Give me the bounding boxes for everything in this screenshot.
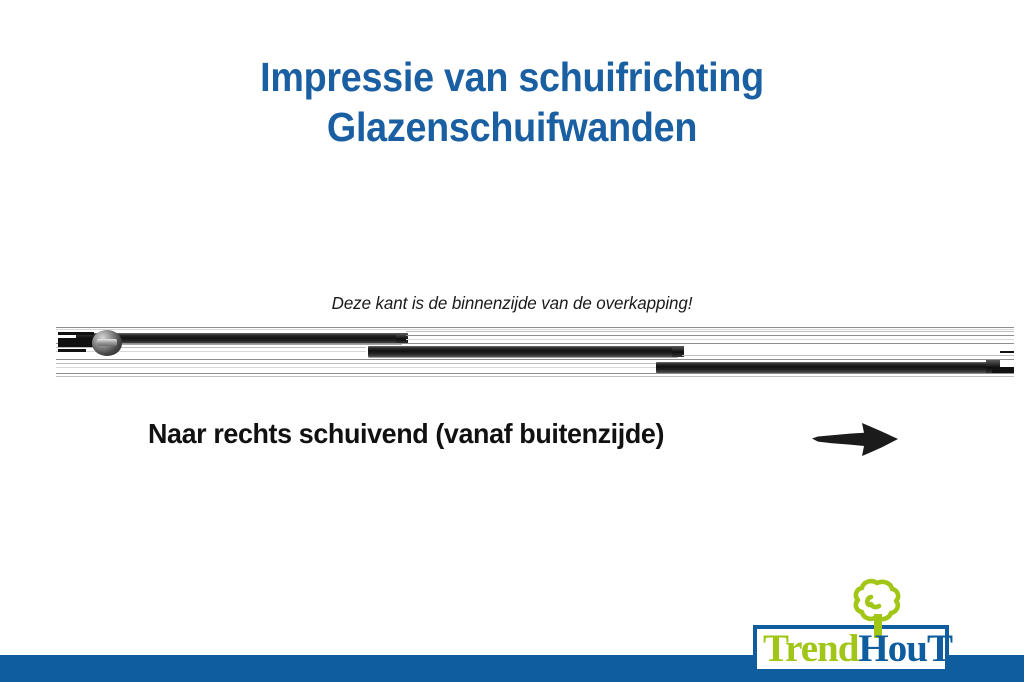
logo-word-trend: Trend bbox=[763, 627, 858, 670]
slide-direction-caption: Naar rechts schuivend (vanaf buitenzijde… bbox=[148, 418, 664, 450]
slide-canvas: Impressie van schuifrichting Glazenschui… bbox=[0, 0, 1024, 682]
rail-line-top-inner bbox=[56, 329, 1014, 330]
trendhout-logo[interactable]: TrendHouT bbox=[753, 576, 953, 682]
rail-line-1c bbox=[406, 339, 1014, 340]
rail-line-1b bbox=[406, 335, 1014, 336]
rail-panel-bar-3 bbox=[656, 362, 992, 373]
inner-side-caption: Deze kant is de binnenzijde van de overk… bbox=[15, 293, 1008, 314]
rail-line-3b bbox=[56, 367, 656, 368]
rail-line-3a bbox=[56, 363, 656, 364]
page-title-line-2: Glazenschuifwanden bbox=[41, 102, 983, 152]
rail-line-2d bbox=[682, 355, 1014, 356]
rail-line-1d bbox=[56, 343, 1014, 344]
rail-right-fitting-bottom bbox=[992, 367, 1014, 373]
right-arrow-icon bbox=[812, 418, 904, 460]
rail-line-bottom-edge bbox=[56, 376, 1014, 377]
logo-word-hout: HouT bbox=[858, 627, 952, 670]
rail-line-2c bbox=[56, 359, 1014, 360]
rail-roller-knob-band bbox=[97, 339, 117, 346]
rail-right-fitting-top bbox=[1000, 351, 1014, 353]
rail-line-top-edge bbox=[56, 327, 1014, 328]
rail-left-fitting-top bbox=[58, 332, 94, 335]
rail-line-3c bbox=[56, 373, 1014, 374]
rail-left-fitting-bottom bbox=[58, 349, 86, 352]
rail-panel-bar-2 bbox=[368, 346, 678, 357]
page-title: Impressie van schuifrichting Glazenschui… bbox=[41, 52, 983, 152]
logo-wordmark: TrendHouT bbox=[763, 628, 943, 670]
rail-line-1a bbox=[406, 331, 1014, 332]
sliding-rail-illustration bbox=[56, 327, 1014, 379]
page-title-line-1: Impressie van schuifrichting bbox=[41, 52, 983, 102]
